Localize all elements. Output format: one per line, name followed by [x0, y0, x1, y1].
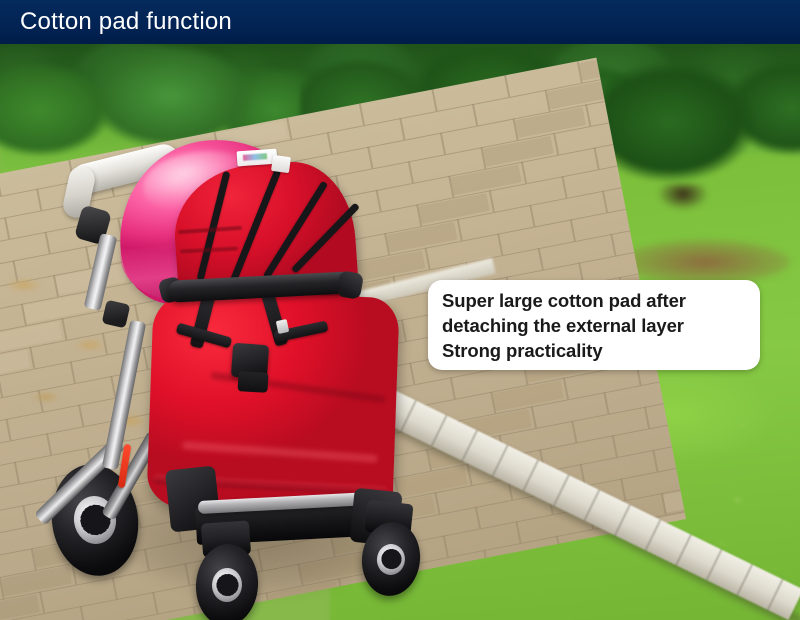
- feature-callout-box: Super large cotton pad after detaching t…: [428, 280, 760, 370]
- page-title: Cotton pad function: [20, 7, 232, 37]
- frame-tube-upper: [84, 233, 118, 311]
- title-bar: Cotton pad function: [0, 0, 800, 44]
- canopy-secondary-tag: [271, 155, 291, 173]
- product-feature-slide: Cotton pad function: [0, 0, 800, 620]
- harness-crotch-strap: [237, 371, 268, 393]
- callout-line-3: Strong practicality: [442, 338, 750, 363]
- harness-clip: [276, 319, 289, 334]
- callout-line-2: detaching the external layer: [442, 313, 750, 338]
- callout-line-1: Super large cotton pad after: [442, 288, 750, 313]
- frame-tube-collar: [102, 300, 131, 329]
- bumper-bar-end-right: [336, 270, 364, 300]
- feature-callout-text: Super large cotton pad after detaching t…: [442, 288, 750, 363]
